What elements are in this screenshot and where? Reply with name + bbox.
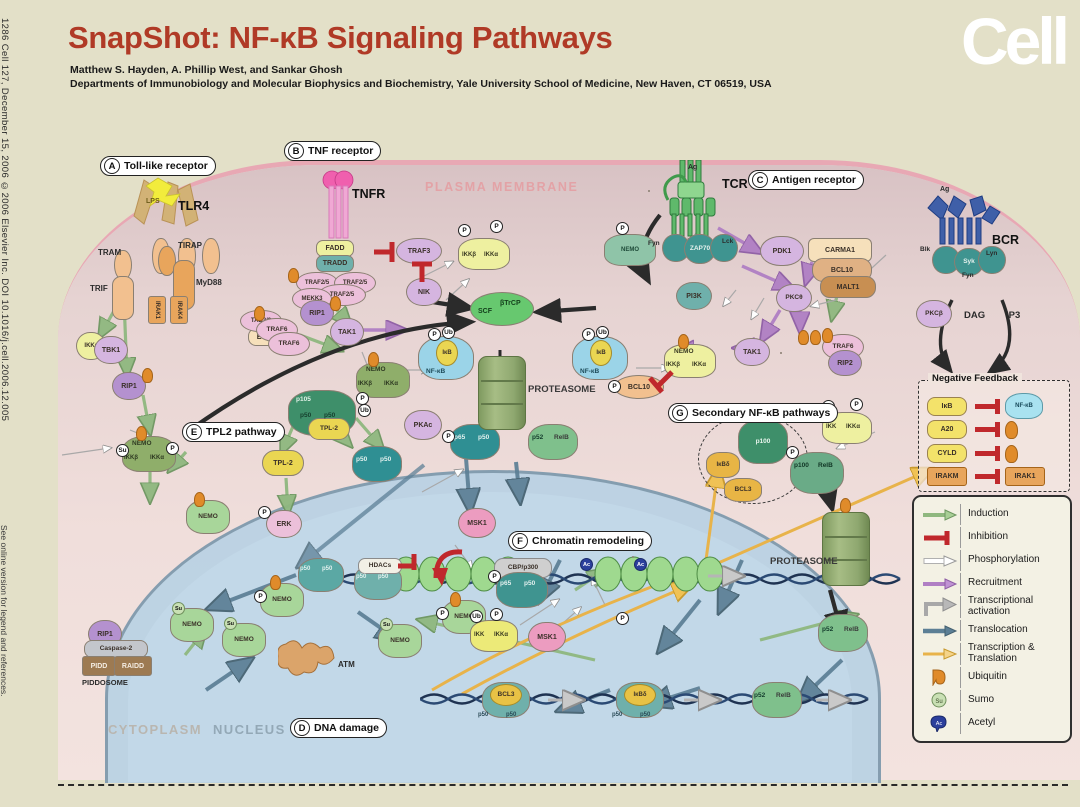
panel-key-c: C [752,172,768,188]
caspase2-label: Caspase-2 [100,646,133,653]
nucleus-label: NUCLEUS [213,722,286,737]
pdk1-node: PDK1 [760,236,804,266]
legend-label-transcription-translation: Transcription & Translation [968,643,1064,665]
ubiquitin-glyph-icon [920,668,960,686]
atm-node [278,636,340,686]
ubiquitin-badge-tcr-2 [810,330,821,345]
msk1-node-bottom: MSK1 [528,622,566,652]
legend-divider-5 [960,596,961,618]
p52-sec-label: p52 [822,626,833,633]
panel-text-e: TPL2 pathway [206,426,277,438]
p100-relb-p100: p100 [794,462,809,469]
relb-label-cyto: RelB [554,434,569,441]
rip2-label: RIP2 [837,360,853,367]
nfb-row-cyld: CYLD [927,444,1018,463]
nfb-row-ikb: IκB NF-κB [927,393,1043,419]
ubiquitin-badge-ikk-chrom: Ub [470,610,483,623]
nfb-irak1-target: IRAK1 [1005,467,1045,486]
ikbd-p50-b: p50 [640,712,650,718]
bcr-label: BCR [992,233,1019,247]
traf25-label-a: TRAF2/5 [305,280,329,286]
panel-key-b: B [288,143,304,159]
panel-label-b: B TNF receptor [284,141,381,161]
legend-divider-3 [960,550,961,571]
legend-item-induction: Induction [914,503,1070,526]
tak1-node-tcr: TAK1 [734,338,770,366]
proteasome-label-center: PROTEASOME [528,384,596,395]
p52-nuclear-label: p52 [754,692,765,699]
panel-label-a: A Toll-like receptor [100,156,216,176]
p50-hdac-b: p50 [378,574,388,580]
legend-item-ubiquitin: Ubiquitin [914,666,1070,689]
ikk-top-ikkb: IKKβ [462,252,476,258]
p50-hdac-a: p50 [356,574,366,580]
nemo-label-center: NEMO [366,366,386,373]
phospho-badge-erk: P [258,506,271,519]
sumo-badge-nemo-2: Su [224,617,237,630]
pkctheta-label: PKCθ [785,295,802,302]
fadd-label: FADD [325,245,344,252]
nfb-row-irakm: IRAKM IRAK1 [927,467,1045,486]
transcriptional-activation-arrow-icon [920,596,960,618]
rip1-label-tnf: RIP1 [309,310,325,317]
nfb-inhibition-icon-4 [975,474,997,479]
traf3-label: TRAF3 [408,248,431,255]
phospho-badge-ikk-top-2: P [490,220,503,233]
phospho-badge-ikk-chrom: P [490,608,503,621]
p50-label-cyto: p50 [478,434,489,441]
proteasome-secondary [822,512,870,586]
legend-item-recruitment: Recruitment [914,572,1070,595]
inhibition-bar-icon [920,530,960,546]
nik-label: NIK [418,289,430,296]
phosphorylation-arrow-icon [920,554,960,568]
atm-label: ATM [338,660,355,669]
ubiquitin-badge-tcr-1 [798,330,809,345]
legend-divider-2 [960,527,961,548]
legend-box: Induction Inhibition Phosphorylation Rec… [912,495,1072,743]
tlr4-label: TLR4 [178,199,209,213]
legend-label-transcriptional-activation: Transcriptional activation [968,596,1064,618]
nfkb-label-left: NF-κB [426,368,445,375]
relb-nuclear-label: RelB [776,692,791,699]
phospho-badge-nemo-nuclear: P [254,590,267,603]
p50-p50-dimer-tpl2 [352,446,402,482]
p100-relb-relb: RelB [818,462,833,469]
p100-relb-complex [790,452,844,494]
p65-label-cyto: p65 [454,434,465,441]
nfb-inhibition-icon-1 [975,404,997,409]
pidd-node: PIDD [82,656,116,676]
p52-relb-dimer-sec [818,614,868,652]
phospho-badge-bcl10: P [608,380,621,393]
scf-label: SCF [478,308,492,315]
tcr-label: TCR [722,177,748,191]
ubiquitin-badge-nemo-right [678,334,689,349]
recruitment-arrow-icon [920,578,960,590]
ikb-label-right: IκB [596,350,605,356]
lps-label: LPS [146,198,160,205]
rip2-node: RIP2 [828,350,862,376]
nemo-label-mid: NEMO [621,247,639,253]
nemo-sumo-label-2: NEMO [234,637,254,644]
nfb-inhibition-icon-3 [975,451,997,456]
ikbdelta-label: IκBδ [717,462,730,468]
tnfr-label: TNFR [352,187,385,201]
ip3-label: IP3 [1006,310,1020,321]
fyn-label-tcr: Fyn [648,240,660,247]
ubiquitin-badge-ikb-right: Ub [596,326,609,339]
pkcbeta-label: PKCβ [925,311,943,318]
legend-divider-8 [960,667,961,688]
phospho-badge-p105: P [356,392,369,405]
rip1-node-tnf: RIP1 [300,300,334,326]
svg-text:Ac: Ac [936,721,943,727]
bcl3-p50-b: p50 [506,712,516,718]
svg-text:Su: Su [935,699,942,705]
phospho-badge-ikb-right: P [582,328,595,341]
myd88-label: MyD88 [196,278,222,287]
bcl3-node-g: BCL3 [724,478,762,502]
bcl3-p50-a: p50 [478,712,488,718]
rip1-label-tlr: RIP1 [121,383,137,390]
p52-label-cyto: p52 [532,434,543,441]
phospho-badge-ikk-top-1: P [458,224,471,237]
ikb-node-left: IκB [436,340,458,366]
ikka-chromatin-label: IKKα [494,632,508,638]
hdacs-label: HDACs [369,563,391,570]
legend-item-transcription-translation: Transcription & Translation [914,642,1070,666]
ubiquitin-badge-nemo-nuclear [270,575,281,590]
ikk-nemo-complex-mid: NEMO [604,234,656,266]
tak1-node-a: TAK1 [330,318,364,346]
affiliation: Departments of Immunobiology and Molecul… [70,78,772,90]
p50-chromatin-label: p50 [524,580,535,587]
nfkb-label-right: NF-κB [580,368,599,375]
pkac-label: PKAc [414,422,433,429]
page-title: SnapShot: NF-κB Signaling Pathways [68,20,612,56]
tbk1-label: TBK1 [102,347,120,354]
spacer-node-2 [780,352,782,354]
tradd-node: TRADD [316,255,354,272]
cytoplasm-label: CYTOPLASM [108,722,202,737]
bcl3-nuclear-node: BCL3 [490,684,522,706]
tpl2-label-free: TPL-2 [273,460,292,467]
legend-divider-6 [960,620,961,641]
legend-list: Induction Inhibition Phosphorylation Rec… [914,503,1070,735]
ubiquitin-badge-ikb-left: Ub [442,326,455,339]
tak1-label-tcr: TAK1 [743,349,761,356]
nemo-sumo-label-3: NEMO [390,638,410,645]
traf3-inhibition-icon [372,240,406,264]
p100-label: p100 [756,439,771,446]
citation-sidebar: 1286 Cell 127, December 15, 2006 ©2006 E… [0,18,10,421]
induction-arrow-icon [920,509,960,521]
phospho-badge-p65: P [442,430,455,443]
msk1-label-top: MSK1 [467,520,486,527]
erk-label: ERK [277,521,292,528]
ikk-sec-label: IKK [826,424,836,430]
ikk-chromatin-label: IKK [474,632,484,638]
ikb-node-right: IκB [590,340,612,366]
ikbdelta-nuclear-label: IκBδ [634,692,647,698]
p50-label-tpl2a: p50 [300,412,311,419]
p50-label-dimer-b: p50 [380,456,391,463]
translocation-arrow-icon [920,625,960,637]
p52-relb-nuclear [752,682,802,718]
online-version-note: See online version for legend and refere… [0,525,9,697]
btrcp-label: βTrCP [500,300,521,307]
tram-label: TRAM [98,248,121,257]
legend-divider-1 [960,504,961,525]
legend-label-phosphorylation: Phosphorylation [968,555,1040,566]
nfb-nfkb-target: NF-κB [1005,393,1043,419]
p65-chromatin-label: p65 [500,580,511,587]
traf6-node-b: TRAF6 [268,332,310,356]
dag-label: DAG [964,310,985,321]
ikka-label-left: IKKα [150,455,164,461]
pdk1-label: PDK1 [773,248,792,255]
p50p50-left-a: p50 [300,566,310,572]
pkctheta-node: PKCθ [776,284,812,312]
bcl3-label-g: BCL3 [735,487,752,494]
proteasome-center [478,356,526,430]
p52-relb-dimer-cyto [528,424,578,460]
ubiquitin-badge-rip1 [142,368,153,383]
panel-text-f: Chromatin remodeling [532,535,644,547]
p50-p50-left-nucleus [298,558,344,592]
p65-p50-chromatin [496,572,548,608]
tpl2-in-complex: TPL-2 [308,418,350,440]
cbp-p300-label: CBP/p300 [508,565,538,572]
bcl10-label-inhibited: BCL10 [628,384,650,391]
panel-label-d: D DNA damage [290,718,387,738]
ubiquitin-badge-tcr-3 [822,328,833,343]
nfb-row-a20: A20 [927,420,1018,439]
p50-label-dimer-a: p50 [356,456,367,463]
p50p50-left-b: p50 [322,566,332,572]
msk1-node-top: MSK1 [458,508,496,538]
ikkb-label-center: IKKβ [358,381,372,387]
rip1-label-piddosome: RIP1 [97,631,113,638]
nemo-nuclear-label: NEMO [272,597,292,604]
piddosome-label: PIDDOSOME [82,678,128,687]
phospho-badge-mid: P [616,222,629,235]
nucleosome-array-right [592,556,722,596]
irak4-node: IRAK4 [170,296,188,324]
nfb-ubiquitin-target-2 [1005,445,1018,463]
irak1-label: IRAK1 [154,301,160,319]
nfb-ubiquitin-target-1 [1005,421,1018,439]
panel-text-b: TNF receptor [308,145,373,157]
bcl3-nuclear-label: BCL3 [498,692,515,699]
trif-label: TRIF [90,284,108,293]
p50-label-tpl2b: p50 [324,412,335,419]
ikb-label-left: IκB [442,350,451,356]
rip1-node-tlr: RIP1 [112,372,146,400]
legend-item-transcriptional-activation: Transcriptional activation [914,595,1070,619]
irak4-label: IRAK4 [176,301,182,319]
sumo-badge-nemo-1: Su [172,602,185,615]
panel-text-c: Antigen receptor [772,174,856,186]
legend-item-phosphorylation: Phosphorylation [914,549,1070,572]
ubiquitin-badge-p105: Ub [358,404,371,417]
trif-node [112,276,134,320]
malt1-label: MALT1 [837,284,860,291]
nfb-cyld-chip: CYLD [927,444,967,463]
cell-journal-logo: Cell [961,8,1066,74]
legend-label-inhibition: Inhibition [968,532,1008,543]
ubiquitin-badge-nemo-center [368,352,379,367]
pkcbeta-node: PKCβ [916,300,952,328]
tbk1-node: TBK1 [94,336,128,364]
raidd-node: RAIDD [114,656,152,676]
nfb-inhibition-icon-2 [975,427,997,432]
p100-node: p100 [738,420,788,464]
transcription-translation-arrow-icon [920,648,960,660]
ikka-label-right: IKKα [692,362,706,368]
bcr-antigen-label: Ag [940,186,949,193]
acetyl-badge-2: Ac [634,558,647,571]
legend-item-sumo: Su Sumo [914,689,1070,712]
pi3k-node: PI3K [676,282,712,310]
legend-divider-7 [960,643,961,665]
nfb-ikb-chip: IκB [927,397,967,416]
legend-item-translocation: Translocation [914,619,1070,642]
malt1-node: MALT1 [820,276,876,298]
legend-divider-9 [960,690,961,711]
ubiquitin-badge-nemo-left [136,426,147,441]
erk-node: ERK [266,510,302,538]
panel-key-e: E [186,424,202,440]
panel-label-f: F Chromatin remodeling [508,531,652,551]
spacer-node [648,190,650,192]
zap70-label: ZAP70 [690,246,710,253]
p105-label: p105 [296,396,311,403]
tak1-label-a: TAK1 [338,329,356,336]
ikka-sec-label: IKKα [846,424,860,430]
legend-label-sumo: Sumo [968,695,994,706]
pidd-label: PIDD [91,663,108,670]
ikka-label-center: IKKα [384,381,398,387]
phospho-badge-nemo-n2: P [436,607,449,620]
negative-feedback-title: Negative Feedback [928,373,1022,384]
snapshot-poster: SnapShot: NF-κB Signaling Pathways Matth… [0,0,1080,807]
ubiquitin-badge-traf6 [254,306,265,321]
acetyl-badge-1: Ac [580,558,593,571]
legend-label-recruitment: Recruitment [968,578,1022,589]
ubiquitin-badge-traf25 [288,268,299,283]
lyn-label: Lyn [986,250,997,257]
sumo-badge-nemo-3: Su [380,618,393,631]
legend-item-inhibition: Inhibition [914,526,1070,549]
nfb-a20-chip: A20 [927,420,967,439]
legend-label-ubiquitin: Ubiquitin [968,672,1007,683]
phospho-badge-cbp: P [488,570,501,583]
nemo-sumo-label-1: NEMO [182,622,202,629]
ubiquitin-badge-p100 [840,498,851,513]
legend-divider-10 [960,713,961,734]
spacer-node-3 [632,556,634,558]
bcl10-label-tcr: BCL10 [831,267,853,274]
tpl2-free: TPL-2 [262,450,304,476]
panel-key-f: F [512,533,528,549]
bcl10-inhibition-icon [648,368,678,394]
carma1-label: CARMA1 [825,247,855,254]
irak1-node: IRAK1 [148,296,166,324]
phospho-badge-left: P [166,442,179,455]
legend-label-acetyl: Acetyl [968,718,995,729]
ikbdelta-node: IκBδ [706,452,740,478]
nik-inhibition-icon [410,258,436,288]
tcr-antigen-label: Ag [688,164,697,171]
nemo-label-left: NEMO [132,440,152,447]
hdac-inhibition-icon [396,548,426,572]
chromatin-looping-arrow [430,542,472,586]
traf6-label-b: TRAF6 [279,341,300,348]
panel-text-g: Secondary NF-κB pathways [692,407,830,419]
legend-label-translocation: Translocation [968,625,1028,636]
panel-label-g: G Secondary NF-κB pathways [668,403,838,423]
nemo-free-label-1: NEMO [198,514,218,521]
phospho-badge-p100: P [786,446,799,459]
panel-text-a: Toll-like receptor [124,160,208,172]
ubiquitin-badge-rip1-tnf [330,296,341,311]
phospho-badge-chrom-right: P [616,612,629,625]
legend-item-acetyl: Ac Acetyl [914,712,1070,735]
msk1-label-bottom: MSK1 [537,634,556,641]
negative-feedback-box: Negative Feedback IκB NF-κB A20 CYLD IRA… [918,380,1070,492]
ubiquitin-badge-nemo-n2 [450,592,461,607]
tpl2-label-complex: TPL-2 [320,426,338,433]
blk-label: Blk [920,246,930,253]
sumo-glyph-icon: Su [920,691,960,709]
bottom-divider [58,784,1068,786]
pkac-node: PKAc [404,410,442,440]
ikbdelta-nuclear-node: IκBδ [624,684,656,706]
plasma-membrane-label: PLASMA MEMBRANE [425,180,578,194]
panel-label-c: C Antigen receptor [748,170,864,190]
phospho-badge-ikk-sec-2: P [850,398,863,411]
nemo-nuclear: NEMO [260,583,304,617]
fyn-label-bcr: Fyn [962,272,974,279]
lck-label: Lck [722,238,733,245]
ikk-top-ikka: IKKα [484,252,498,258]
tradd-label: TRADD [323,260,348,267]
nemo-free-1: NEMO [186,500,230,534]
ikbd-p50-a: p50 [612,712,622,718]
panel-key-d: D [294,720,310,736]
nfb-irakm-chip: IRAKM [927,467,967,486]
relb-sec-label: RelB [844,626,859,633]
legend-divider-4 [960,573,961,594]
raidd-label: RAIDD [122,663,144,670]
sumo-badge-left: Su [116,444,129,457]
panel-label-e: E TPL2 pathway [182,422,285,442]
authors: Matthew S. Hayden, A. Phillip West, and … [70,64,342,76]
tirap-label: TIRAP [178,241,202,250]
tnfr-receptor [318,170,360,250]
legend-label-induction: Induction [968,509,1009,520]
tlr-adaptor-3 [202,238,220,274]
nemo-label-right: NEMO [674,348,694,355]
panel-key-g: G [672,405,688,421]
syk-label: Syk [963,259,975,266]
phospho-badge-ikb-left: P [428,328,441,341]
pi3k-label: PI3K [686,293,702,300]
panel-text-d: DNA damage [314,722,379,734]
panel-key-a: A [104,158,120,174]
